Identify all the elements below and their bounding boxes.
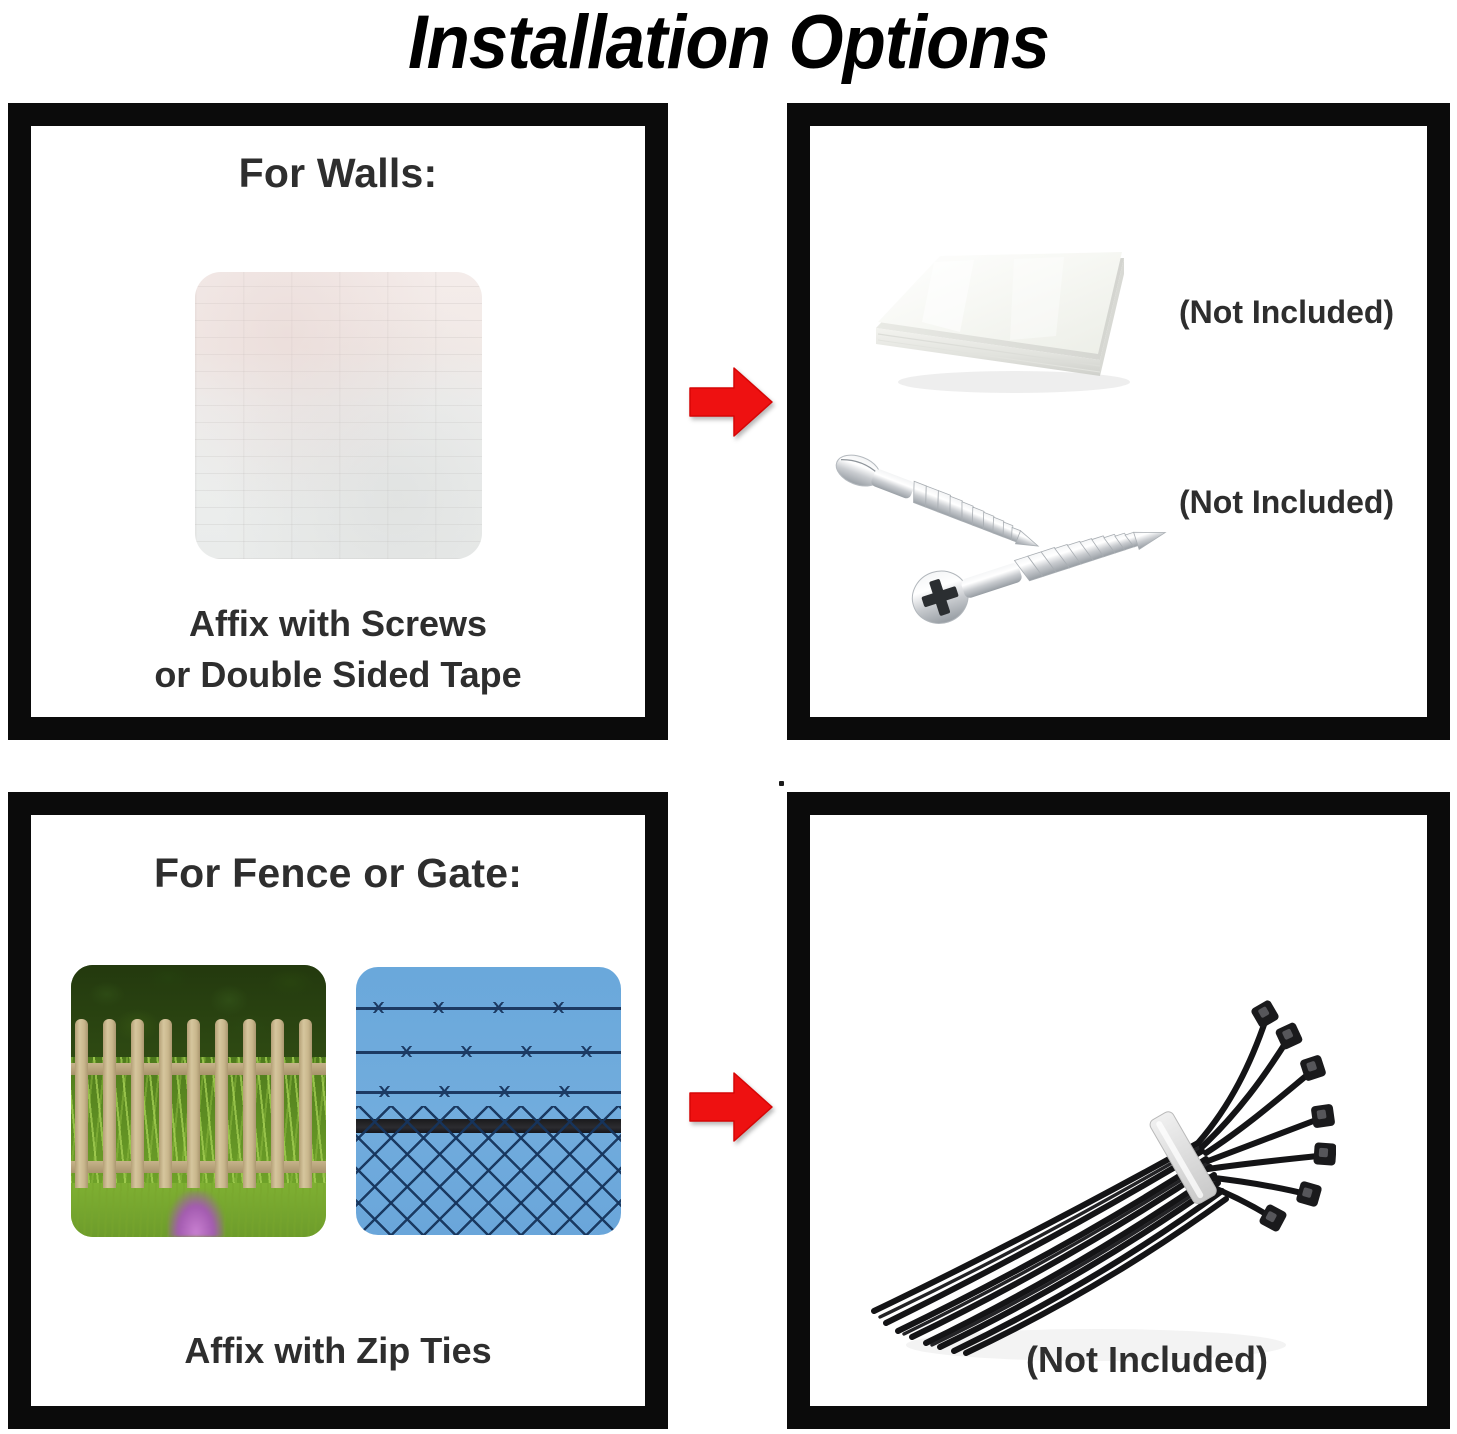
double-sided-tape-stack (864, 236, 1150, 396)
image-speck-artifact (779, 781, 784, 786)
chain-link-barbed-wire-fence-photo (356, 967, 621, 1235)
arrow-right-icon-bottom (688, 1069, 774, 1145)
not-included-label-screws: (Not Included) (1179, 484, 1394, 521)
panel-heading-walls: For Walls: (31, 150, 645, 197)
installation-options-grid: For Walls: Affix with Screws or Double S… (0, 92, 1457, 1434)
page-title: Installation Options (51, 0, 1406, 86)
caption-line-1: Affix with Screws (31, 598, 645, 649)
caption-line-1: Affix with Zip Ties (31, 1325, 645, 1376)
not-included-label-tape: (Not Included) (1179, 294, 1394, 331)
arrow-right-icon-top (688, 364, 774, 440)
panel-heading-fence: For Fence or Gate: (31, 850, 645, 897)
panel-caption-walls: Affix with Screws or Double Sided Tape (31, 598, 645, 700)
caption-line-2: or Double Sided Tape (31, 649, 645, 700)
wooden-picket-fence-photo (71, 965, 326, 1237)
panel-for-walls: For Walls: Affix with Screws or Double S… (8, 103, 668, 740)
white-brick-wall-photo (195, 272, 482, 559)
black-zip-ties-bundle (846, 993, 1336, 1383)
panel-fence-hardware: (Not Included) (787, 792, 1450, 1429)
not-included-label-zipties: (Not Included) (1026, 1339, 1268, 1381)
panel-caption-fence: Affix with Zip Ties (31, 1325, 645, 1376)
panel-for-fence-or-gate: For Fence or Gate: (8, 792, 668, 1429)
wood-screw-lower (892, 524, 1192, 644)
panel-wall-hardware: (Not Included) (787, 103, 1450, 740)
